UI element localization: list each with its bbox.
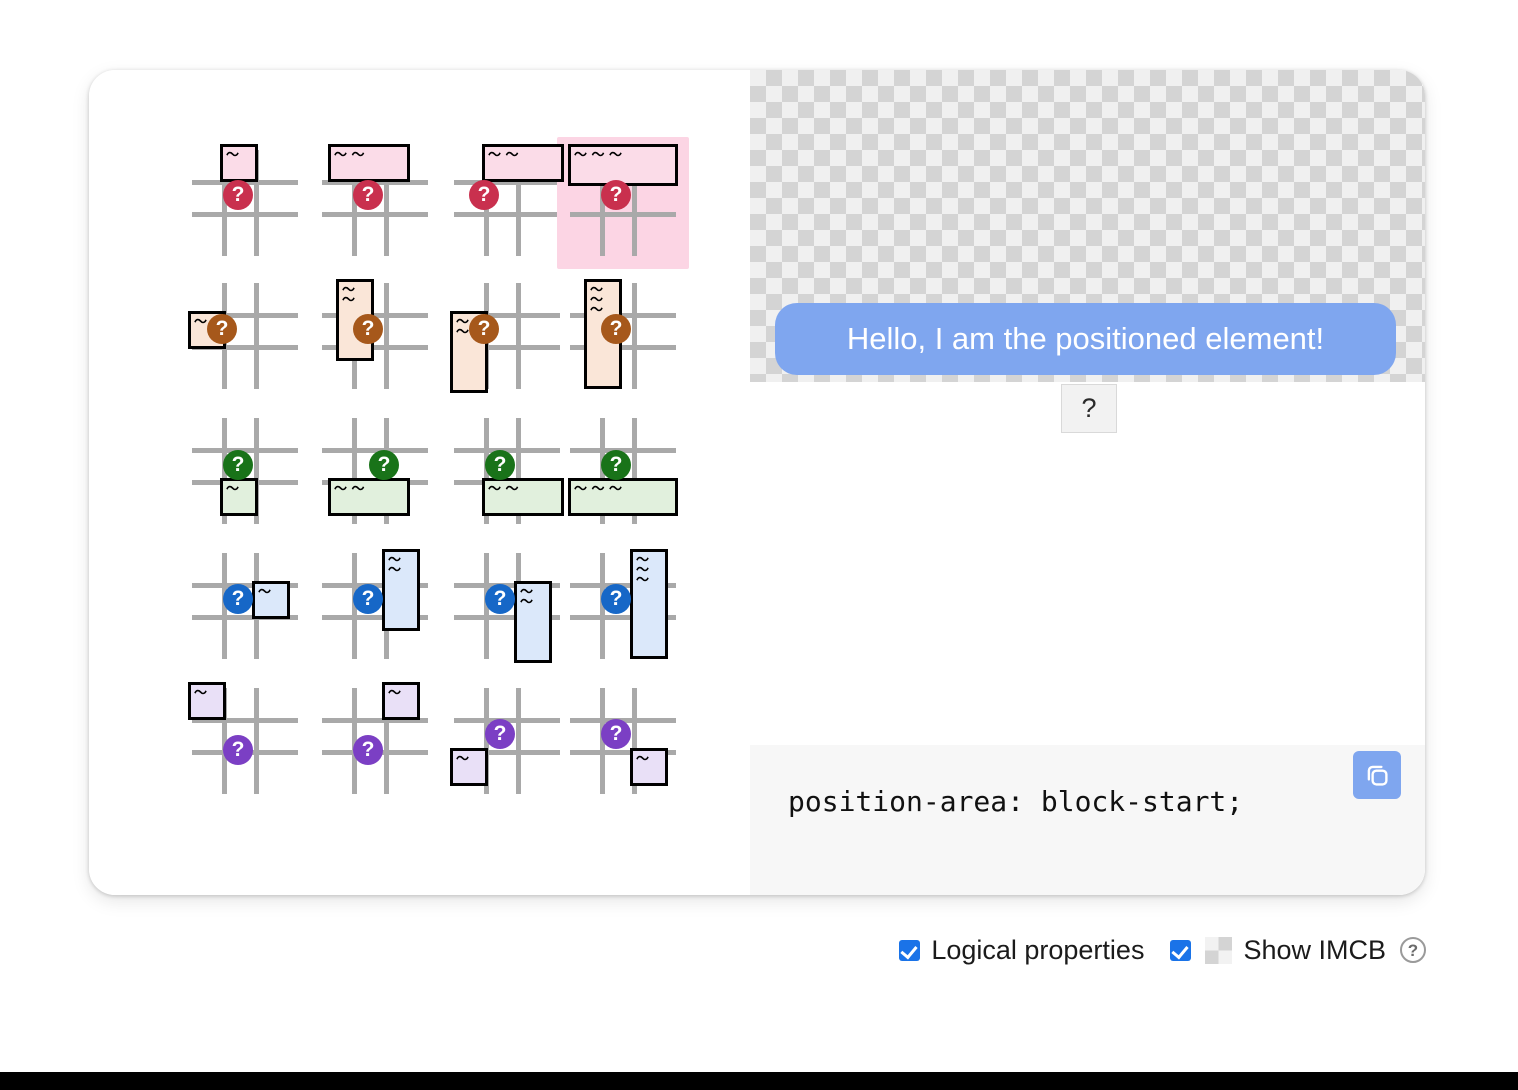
positioned-box-preview: 〜 bbox=[252, 581, 290, 619]
positioned-box-preview: 〜 〜 bbox=[328, 478, 410, 516]
position-area-option-inline-start-4[interactable]: 〜〜〜? bbox=[557, 270, 689, 402]
text-squiggle-line: 〜 〜 bbox=[334, 485, 404, 494]
positioned-box-preview: 〜 〜 bbox=[482, 478, 564, 516]
positioned-box-preview: 〜 〜 〜 bbox=[568, 144, 678, 186]
positioned-box-preview: 〜 〜 bbox=[482, 144, 564, 182]
anchor-element-box: ? bbox=[1061, 384, 1117, 433]
text-squiggle-line: 〜 〜 bbox=[488, 485, 558, 494]
positioned-box-preview: 〜〜 bbox=[514, 581, 552, 663]
position-area-diagram: 〜〜? bbox=[441, 540, 573, 672]
positioned-box-preview: 〜〜 bbox=[382, 549, 420, 631]
text-squiggle-line: 〜 bbox=[636, 755, 662, 764]
anchor-badge: ? bbox=[223, 735, 253, 765]
position-area-diagram: 〜〜? bbox=[309, 540, 441, 672]
logical-properties-control[interactable]: Logical properties bbox=[899, 935, 1144, 966]
position-area-diagram: 〜 〜 〜? bbox=[557, 137, 689, 269]
containing-block-gridline bbox=[516, 688, 521, 794]
show-imcb-checkbox[interactable] bbox=[1170, 940, 1191, 961]
position-area-option-inline-end-2[interactable]: 〜〜? bbox=[309, 540, 441, 672]
position-area-option-corner-1[interactable]: 〜? bbox=[179, 675, 311, 807]
text-squiggle-line: 〜 〜 〜 bbox=[574, 151, 672, 160]
text-squiggle-line: 〜 bbox=[226, 485, 252, 494]
containing-block-gridline bbox=[570, 212, 676, 217]
positioned-box-preview: 〜 bbox=[450, 748, 488, 786]
anchor-badge: ? bbox=[207, 314, 237, 344]
positioned-box-preview: 〜〜〜 bbox=[630, 549, 668, 659]
positioned-box-preview: 〜 bbox=[220, 144, 258, 182]
text-squiggle-line: 〜 bbox=[342, 296, 368, 305]
containing-block-gridline bbox=[516, 283, 521, 389]
position-area-option-inline-end-1[interactable]: 〜? bbox=[179, 540, 311, 672]
anchor-badge: ? bbox=[601, 314, 631, 344]
text-squiggle-line: 〜 〜 〜 bbox=[574, 485, 672, 494]
position-area-diagram: 〜〜? bbox=[309, 270, 441, 402]
text-squiggle-line: 〜 bbox=[388, 566, 414, 575]
containing-block-gridline bbox=[384, 283, 389, 389]
anchor-badge: ? bbox=[353, 584, 383, 614]
anchor-badge: ? bbox=[223, 450, 253, 480]
anchor-badge: ? bbox=[601, 719, 631, 749]
screen-bottom-bar bbox=[0, 1072, 1518, 1090]
position-area-option-inline-start-3[interactable]: 〜〜? bbox=[441, 270, 573, 402]
copy-icon[interactable] bbox=[1353, 751, 1401, 799]
position-area-option-block-end-2[interactable]: 〜 〜? bbox=[309, 405, 441, 537]
logical-properties-checkbox[interactable] bbox=[899, 940, 920, 961]
position-area-option-corner-3[interactable]: 〜? bbox=[441, 675, 573, 807]
position-area-option-inline-end-3[interactable]: 〜〜? bbox=[441, 540, 573, 672]
position-area-option-block-end-3[interactable]: 〜 〜? bbox=[441, 405, 573, 537]
containing-block-gridline bbox=[254, 688, 259, 794]
code-output-panel: position-area: block-start; bbox=[750, 745, 1425, 895]
text-squiggle-line: 〜 bbox=[456, 755, 482, 764]
position-area-option-block-end-1[interactable]: 〜? bbox=[179, 405, 311, 537]
demo-card: 〜?〜 〜?〜 〜?〜 〜 〜?〜?〜〜?〜〜?〜〜〜?〜?〜 〜?〜 〜?〜 … bbox=[89, 70, 1425, 895]
anchor-badge: ? bbox=[223, 180, 253, 210]
position-area-option-block-start-3[interactable]: 〜 〜? bbox=[441, 137, 573, 269]
show-imcb-label: Show IMCB bbox=[1243, 935, 1386, 966]
positioned-box-preview: 〜 〜 〜 bbox=[568, 478, 678, 516]
position-area-option-block-start-1[interactable]: 〜? bbox=[179, 137, 311, 269]
options-bar: Logical properties Show IMCB ? bbox=[0, 920, 1518, 980]
position-area-diagram: 〜〜〜? bbox=[557, 540, 689, 672]
position-area-diagram: 〜? bbox=[179, 270, 311, 402]
anchor-badge: ? bbox=[469, 180, 499, 210]
text-squiggle-line: 〜 bbox=[520, 598, 546, 607]
text-squiggle-line: 〜 bbox=[226, 151, 252, 160]
anchor-badge: ? bbox=[353, 735, 383, 765]
text-squiggle-line: 〜 〜 bbox=[488, 151, 558, 160]
anchor-badge: ? bbox=[353, 180, 383, 210]
anchor-badge: ? bbox=[601, 584, 631, 614]
position-area-matrix-panel: 〜?〜 〜?〜 〜?〜 〜 〜?〜?〜〜?〜〜?〜〜〜?〜?〜 〜?〜 〜?〜 … bbox=[89, 70, 750, 895]
position-area-option-corner-4[interactable]: 〜? bbox=[557, 675, 689, 807]
containing-block-gridline bbox=[632, 283, 637, 389]
position-area-diagram: 〜? bbox=[309, 675, 441, 807]
containing-block-gridline bbox=[192, 212, 298, 217]
position-area-option-inline-start-2[interactable]: 〜〜? bbox=[309, 270, 441, 402]
css-declaration-text: position-area: block-start; bbox=[788, 785, 1243, 818]
position-area-diagram: 〜〜〜? bbox=[557, 270, 689, 402]
text-squiggle-line: 〜 bbox=[194, 689, 220, 698]
position-area-diagram: 〜? bbox=[179, 540, 311, 672]
text-squiggle-line: 〜 bbox=[388, 689, 414, 698]
preview-panel: Hello, I am the positioned element! ? po… bbox=[750, 70, 1425, 895]
position-area-option-inline-start-1[interactable]: 〜? bbox=[179, 270, 311, 402]
text-squiggle-line: 〜 bbox=[258, 588, 284, 597]
anchor-badge: ? bbox=[353, 314, 383, 344]
position-area-diagram: 〜 〜 〜? bbox=[557, 405, 689, 537]
position-area-diagram: 〜? bbox=[441, 675, 573, 807]
anchor-badge: ? bbox=[485, 719, 515, 749]
text-squiggle-line: 〜 bbox=[636, 576, 662, 585]
position-area-diagram: 〜〜? bbox=[441, 270, 573, 402]
anchor-badge: ? bbox=[601, 180, 631, 210]
position-area-diagram: 〜 〜? bbox=[441, 137, 573, 269]
position-area-diagram: 〜? bbox=[557, 675, 689, 807]
checkerboard-swatch-icon bbox=[1205, 937, 1232, 964]
anchor-badge: ? bbox=[369, 450, 399, 480]
anchor-badge: ? bbox=[223, 584, 253, 614]
show-imcb-control[interactable]: Show IMCB bbox=[1170, 935, 1386, 966]
position-area-diagram: 〜? bbox=[179, 405, 311, 537]
position-area-option-block-start-2[interactable]: 〜 〜? bbox=[309, 137, 441, 269]
anchor-badge: ? bbox=[485, 584, 515, 614]
anchor-badge: ? bbox=[469, 314, 499, 344]
containing-block-gridline bbox=[254, 283, 259, 389]
positioned-box-preview: 〜 bbox=[382, 682, 420, 720]
positioned-box-preview: 〜 〜 bbox=[328, 144, 410, 182]
positioned-box-preview: 〜 bbox=[220, 478, 258, 516]
text-squiggle-line: 〜 〜 bbox=[334, 151, 404, 160]
position-area-diagram: 〜 〜? bbox=[309, 137, 441, 269]
containing-block-gridline bbox=[454, 212, 560, 217]
logical-properties-label: Logical properties bbox=[931, 935, 1144, 966]
positioned-box-preview: 〜 bbox=[630, 748, 668, 786]
anchor-badge: ? bbox=[485, 450, 515, 480]
positioned-box-preview: 〜 bbox=[188, 682, 226, 720]
position-area-diagram: 〜 〜? bbox=[441, 405, 573, 537]
position-area-option-inline-end-4[interactable]: 〜〜〜? bbox=[557, 540, 689, 672]
containing-block-gridline bbox=[322, 212, 428, 217]
anchor-badge: ? bbox=[601, 450, 631, 480]
position-area-option-block-end-4[interactable]: 〜 〜 〜? bbox=[557, 405, 689, 537]
position-area-diagram: 〜? bbox=[179, 675, 311, 807]
positioned-element-bubble: Hello, I am the positioned element! bbox=[775, 303, 1396, 375]
help-question-icon[interactable]: ? bbox=[1400, 937, 1426, 963]
position-area-diagram: 〜? bbox=[179, 137, 311, 269]
position-area-option-corner-2[interactable]: 〜? bbox=[309, 675, 441, 807]
position-area-matrix: 〜?〜 〜?〜 〜?〜 〜 〜?〜?〜〜?〜〜?〜〜〜?〜?〜 〜?〜 〜?〜 … bbox=[89, 70, 750, 895]
position-area-option-block-start-4[interactable]: 〜 〜 〜? bbox=[557, 137, 689, 269]
position-area-diagram: 〜 〜? bbox=[309, 405, 441, 537]
